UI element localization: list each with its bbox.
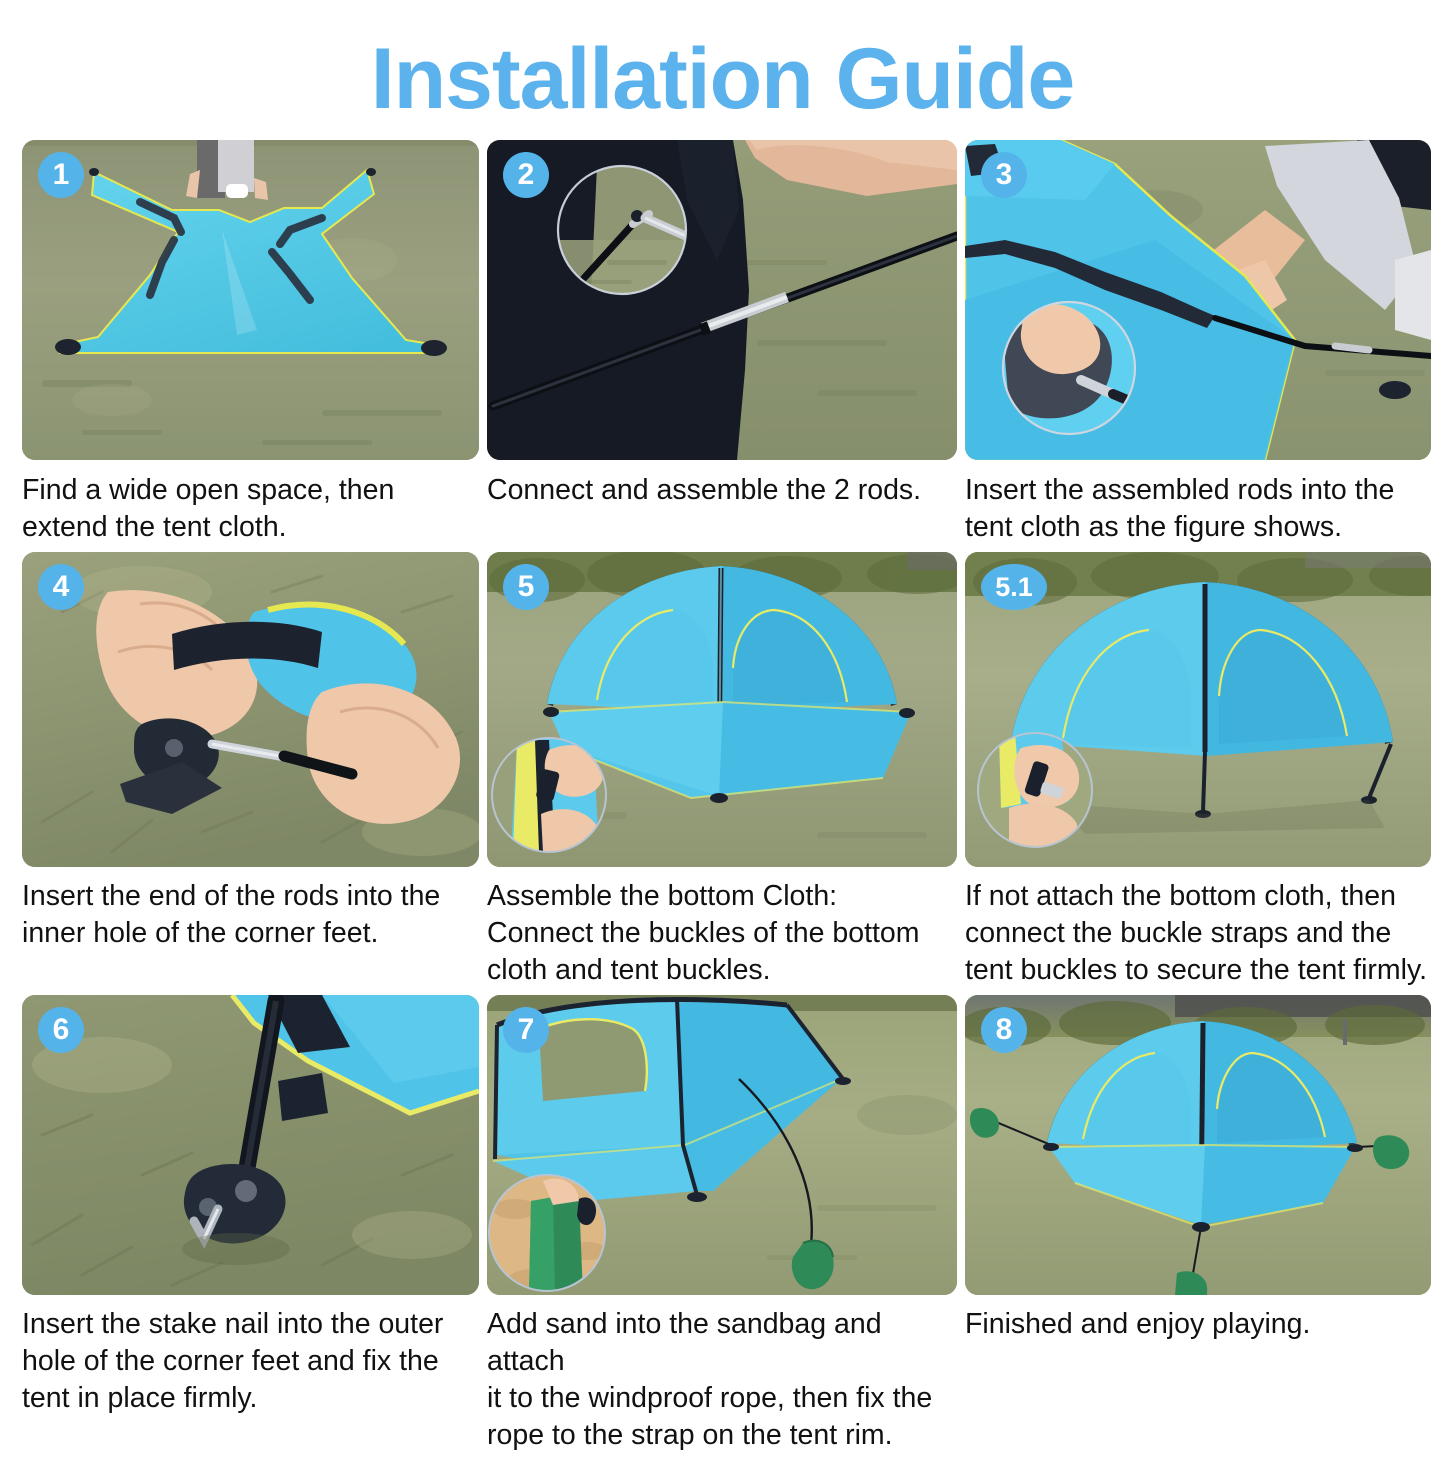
step-card-5-1: 5.1 If not attach the bottom cloth, then… [965, 552, 1431, 989]
step-card-4: 4 Insert the end of the rods into the in… [22, 552, 479, 989]
illustration-tent-with-floor [487, 552, 957, 867]
step-caption-1: Find a wide open space, then extend the … [22, 472, 479, 546]
step-card-5: 5 Assemble the bottom Cloth: Connect the… [487, 552, 957, 989]
step-caption-7: Add sand into the sandbag and attach it … [487, 1306, 957, 1454]
step-photo-2: 2 [487, 140, 957, 460]
step-card-8: 8 Finished and enjoy playing. [965, 995, 1431, 1454]
page-title: Installation Guide [0, 0, 1445, 122]
step-badge-1: 1 [38, 152, 84, 198]
step-caption-5: Assemble the bottom Cloth: Connect the b… [487, 878, 957, 989]
step-photo-8: 8 [965, 995, 1431, 1295]
step-photo-7: 7 [487, 995, 957, 1295]
step-caption-6: Insert the stake nail into the outer hol… [22, 1306, 479, 1417]
step-caption-2: Connect and assemble the 2 rods. [487, 472, 957, 509]
step-caption-3: Insert the assembled rods into the tent … [965, 472, 1431, 546]
step-badge-8: 8 [981, 1007, 1027, 1053]
illustration-finished-tent [965, 995, 1431, 1295]
step-badge-5: 5 [503, 564, 549, 610]
step-badge-5-1: 5.1 [981, 564, 1047, 610]
step-photo-5: 5 [487, 552, 957, 867]
steps-grid: 1 Find a wide open space, then extend th… [0, 140, 1445, 1460]
step-card-7: 7 Add sand into the sandbag and attach i… [487, 995, 957, 1454]
step-card-1: 1 Find a wide open space, then extend th… [22, 140, 479, 546]
step-badge-2: 2 [503, 152, 549, 198]
installation-guide-page: Installation Guide [0, 0, 1445, 1445]
illustration-rod-into-sleeve [965, 140, 1431, 460]
step-photo-6: 6 [22, 995, 479, 1295]
illustration-cloth-spread [22, 140, 479, 460]
step-badge-7: 7 [503, 1007, 549, 1053]
step-photo-5-1: 5.1 [965, 552, 1431, 867]
step-caption-5-1: If not attach the bottom cloth, then con… [965, 878, 1431, 989]
step-card-2: 2 Connect and assemble the 2 rods. [487, 140, 957, 546]
step-badge-3: 3 [981, 152, 1027, 198]
illustration-rod-joint [487, 140, 957, 460]
step-badge-4: 4 [38, 564, 84, 610]
illustration-rod-into-corner-foot [22, 552, 479, 867]
illustration-tent-with-sandbag [487, 995, 957, 1295]
illustration-stake-into-foot [22, 995, 479, 1295]
step-card-3: 3 Insert the assembled rods into the ten… [965, 140, 1431, 546]
step-photo-4: 4 [22, 552, 479, 867]
step-photo-1: 1 [22, 140, 479, 460]
step-card-6: 6 Insert the stake nail into the outer h… [22, 995, 479, 1454]
step-badge-6: 6 [38, 1007, 84, 1053]
step-photo-3: 3 [965, 140, 1431, 460]
step-caption-4: Insert the end of the rods into the inne… [22, 878, 479, 952]
step-caption-8: Finished and enjoy playing. [965, 1306, 1431, 1343]
